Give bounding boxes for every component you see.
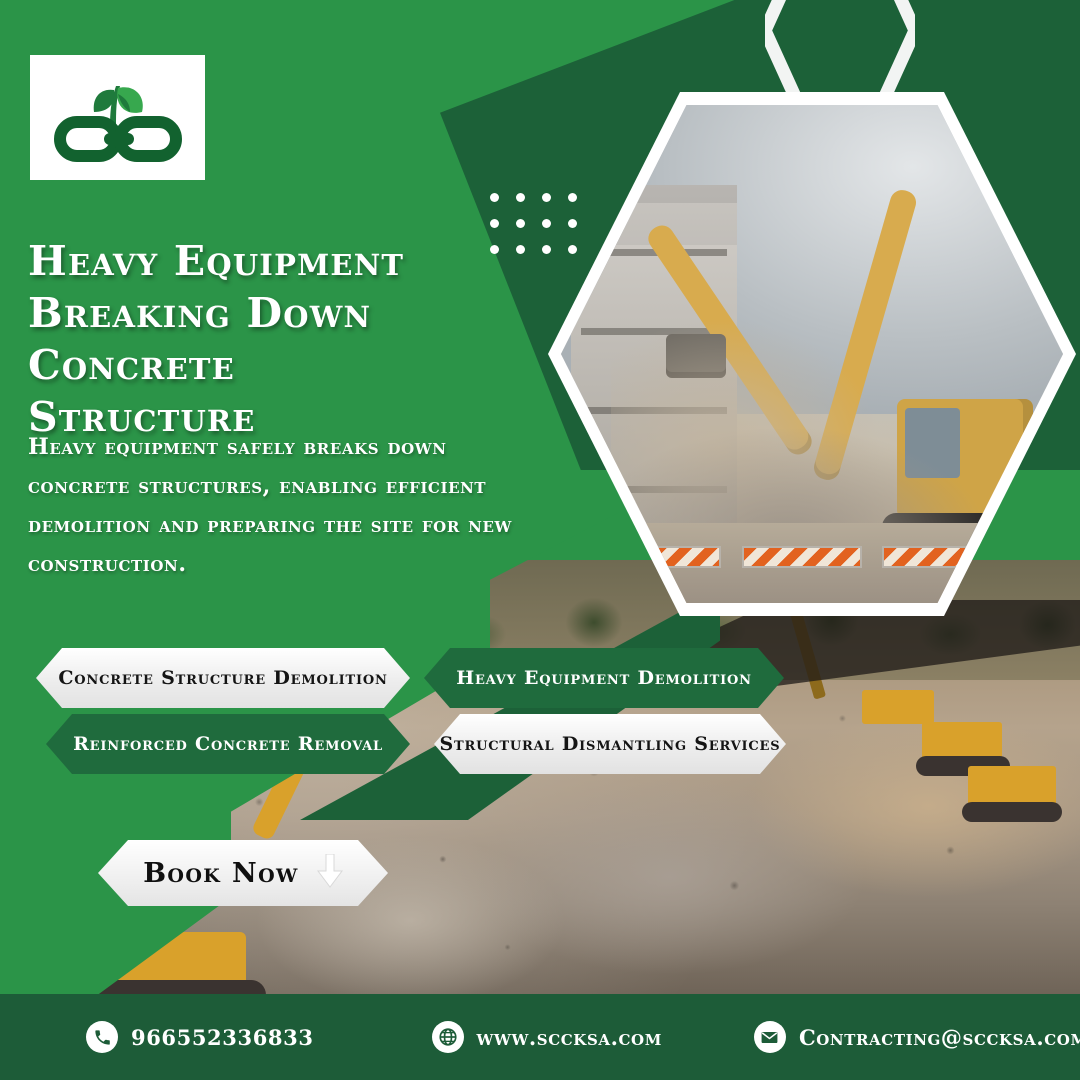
phone-number: 966552336833 (131, 1025, 314, 1050)
contact-footer: 966552336833 www.sccksa.com (0, 994, 1080, 1080)
book-now-label: Book Now (143, 858, 299, 889)
arrow-down-icon (317, 854, 343, 892)
page-title: Heavy Equipment Breaking Down Concrete S… (28, 235, 548, 443)
service-badge-label: Heavy Equipment Demolition (456, 667, 752, 689)
email-address: Contracting@sccksa.com (799, 1025, 1080, 1050)
excavator-body-b (862, 690, 934, 724)
poster-canvas: Heavy Equipment Breaking Down Concrete S… (0, 0, 1080, 1080)
rubble-pile (591, 429, 983, 539)
description-text: Heavy equipment safely breaks down concr… (28, 428, 538, 585)
excavator-body-c (922, 722, 1002, 760)
service-badge-label: Structural Dismantling Services (440, 733, 781, 755)
excavator-track-d (962, 802, 1062, 822)
service-badge-label: Reinforced Concrete Removal (73, 733, 383, 755)
footer-email[interactable]: Contracting@sccksa.com (754, 1021, 1080, 1053)
safety-barrier-2 (742, 546, 862, 568)
footer-website[interactable]: www.sccksa.com (432, 1021, 662, 1053)
globe-icon (432, 1021, 464, 1053)
title-line-2: Breaking Down Concrete (28, 287, 548, 391)
service-badge-concrete-structure-demolition[interactable]: Concrete Structure Demolition (36, 648, 410, 708)
service-badge-structural-dismantling-services[interactable]: Structural Dismantling Services (434, 714, 786, 774)
plant-chain-logo-icon (48, 68, 188, 168)
book-now-button[interactable]: Book Now (98, 840, 388, 906)
website-url: www.sccksa.com (477, 1025, 662, 1050)
envelope-icon (754, 1021, 786, 1053)
service-badge-reinforced-concrete-removal[interactable]: Reinforced Concrete Removal (46, 714, 410, 774)
excavator-track-c (916, 756, 1010, 776)
company-logo (30, 55, 205, 180)
hero-image-hexagon (548, 92, 1076, 616)
phone-icon (86, 1021, 118, 1053)
footer-phone[interactable]: 966552336833 (86, 1021, 314, 1053)
service-badge-heavy-equipment-demolition[interactable]: Heavy Equipment Demolition (424, 648, 784, 708)
service-badge-label: Concrete Structure Demolition (58, 667, 387, 689)
title-line-1: Heavy Equipment (28, 235, 548, 287)
safety-barrier-3 (882, 546, 1002, 568)
excavator-body-d (968, 766, 1056, 806)
